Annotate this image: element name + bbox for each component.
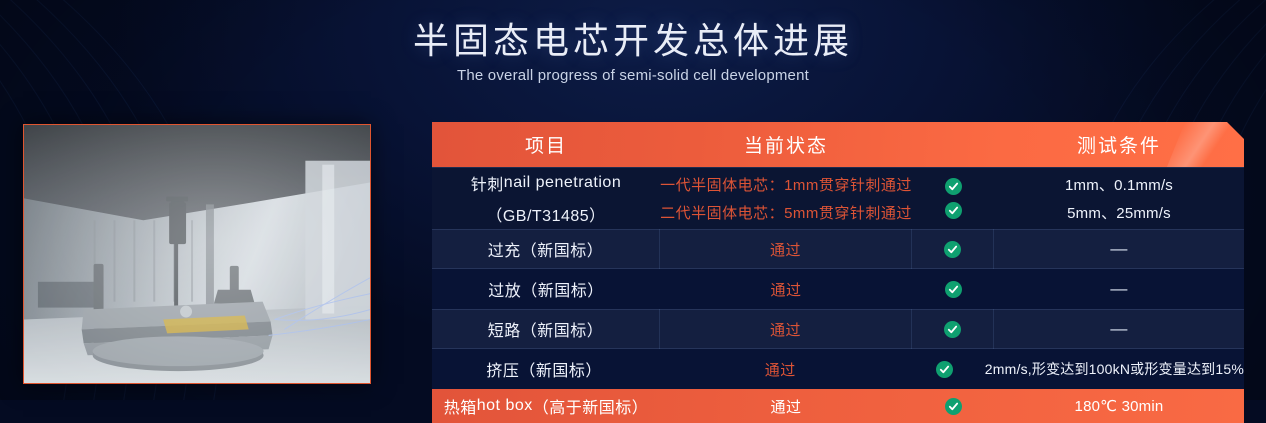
check-icon — [945, 281, 962, 298]
check-icon — [936, 361, 953, 378]
row-item-name: 过放（新国标） — [488, 277, 604, 301]
row-condition-cell: 180℃ 30min — [994, 389, 1244, 423]
row-check-cell — [912, 229, 994, 269]
row-item-name: 过充（新国标） — [488, 237, 604, 261]
row-item-cell: 过充（新国标） — [432, 229, 660, 269]
row-item-cell: 过放（新国标） — [432, 269, 660, 309]
row-condition: 2mm/s,形变达到100kN或形变量达到15% — [985, 359, 1244, 379]
row-item-name: 热箱 — [444, 394, 477, 418]
check-icon — [945, 178, 962, 195]
row-check-cell — [912, 167, 994, 229]
row-status-cell: 通过 — [660, 309, 912, 349]
table-row: 短路（新国标） 通过 — — [432, 309, 1244, 349]
row-status: 通过 — [770, 279, 801, 300]
row-status: 通过 — [770, 319, 801, 340]
row-condition-2: 5mm、25mm/s — [1067, 202, 1171, 223]
row-check-cell — [904, 349, 985, 389]
table-row-highlighted: 热箱hot box（高于新国标） 通过 180℃ 30min — [432, 389, 1244, 423]
row-condition: — — [1110, 319, 1127, 339]
page-title-en: The overall progress of semi-solid cell … — [0, 67, 1266, 84]
row-status-cell: 通过 — [660, 229, 912, 269]
row-item-standard: （GB/T31485） — [486, 202, 605, 226]
row-status-cell: 一代半固体电芯：1mm贯穿针刺通过 二代半固体电芯：5mm贯穿针刺通过 — [660, 167, 912, 229]
row-check-cell — [912, 309, 994, 349]
page-title-block: 半固态电芯开发总体进展 The overall progress of semi… — [0, 18, 1266, 84]
row-item-cell: 挤压（新国标） — [432, 349, 656, 389]
row-check-cell — [912, 389, 994, 423]
column-header-condition: 测试条件 — [994, 131, 1244, 158]
row-item-name: 挤压（新国标） — [486, 357, 602, 381]
check-icon — [944, 241, 961, 258]
test-chamber-illustration — [24, 125, 370, 383]
table-row: 针刺 nail penetration （GB/T31485） 一代半固体电芯：… — [432, 167, 1244, 229]
check-icon — [945, 398, 962, 415]
row-status-cell: 通过 — [660, 389, 912, 423]
row-status: 通过 — [765, 359, 796, 380]
row-condition-1: 1mm、0.1mm/s — [1065, 174, 1173, 195]
row-status-gen2: 二代半固体电芯：5mm贯穿针刺通过 — [660, 202, 912, 223]
check-icon — [944, 321, 961, 338]
row-condition-cell: 2mm/s,形变达到100kN或形变量达到15% — [985, 349, 1244, 389]
row-item-name-en: nail penetration — [504, 174, 621, 192]
row-condition: — — [1110, 279, 1127, 299]
row-condition-cell: — — [994, 229, 1244, 269]
row-condition-cell: — — [994, 269, 1244, 309]
row-item-name: 短路（新国标） — [488, 317, 604, 341]
table-row: 挤压（新国标） 通过 2mm/s,形变达到100kN或形变量达到15% — [432, 349, 1244, 389]
row-condition: — — [1110, 239, 1127, 259]
row-item-standard: （高于新国标） — [533, 394, 649, 418]
row-status: 通过 — [770, 396, 801, 417]
row-status: 通过 — [770, 239, 801, 260]
row-status-gen1: 一代半固体电芯：1mm贯穿针刺通过 — [660, 174, 912, 195]
row-item-cell: 热箱hot box（高于新国标） — [432, 389, 660, 423]
page-title-cn: 半固态电芯开发总体进展 — [0, 18, 1266, 63]
row-item-cell: 针刺 nail penetration （GB/T31485） — [432, 167, 660, 229]
test-results-table: 项目 当前状态 测试条件 针刺 nail penetration （GB/T31… — [432, 122, 1244, 423]
row-condition-cell: — — [994, 309, 1244, 349]
row-status-cell: 通过 — [660, 269, 912, 309]
row-status-cell: 通过 — [656, 349, 904, 389]
table-header-row: 项目 当前状态 测试条件 — [432, 122, 1244, 167]
column-header-item: 项目 — [432, 131, 660, 158]
check-icon — [945, 202, 962, 219]
table-row: 过放（新国标） 通过 — — [432, 269, 1244, 309]
row-item-cell: 短路（新国标） — [432, 309, 660, 349]
row-condition-cell: 1mm、0.1mm/s 5mm、25mm/s — [994, 167, 1244, 229]
row-check-cell — [912, 269, 994, 309]
table-row: 过充（新国标） 通过 — — [432, 229, 1244, 269]
column-header-status: 当前状态 — [660, 131, 912, 158]
row-item-name: 针刺 — [471, 171, 504, 195]
nail-penetration-test-photo — [23, 124, 371, 384]
